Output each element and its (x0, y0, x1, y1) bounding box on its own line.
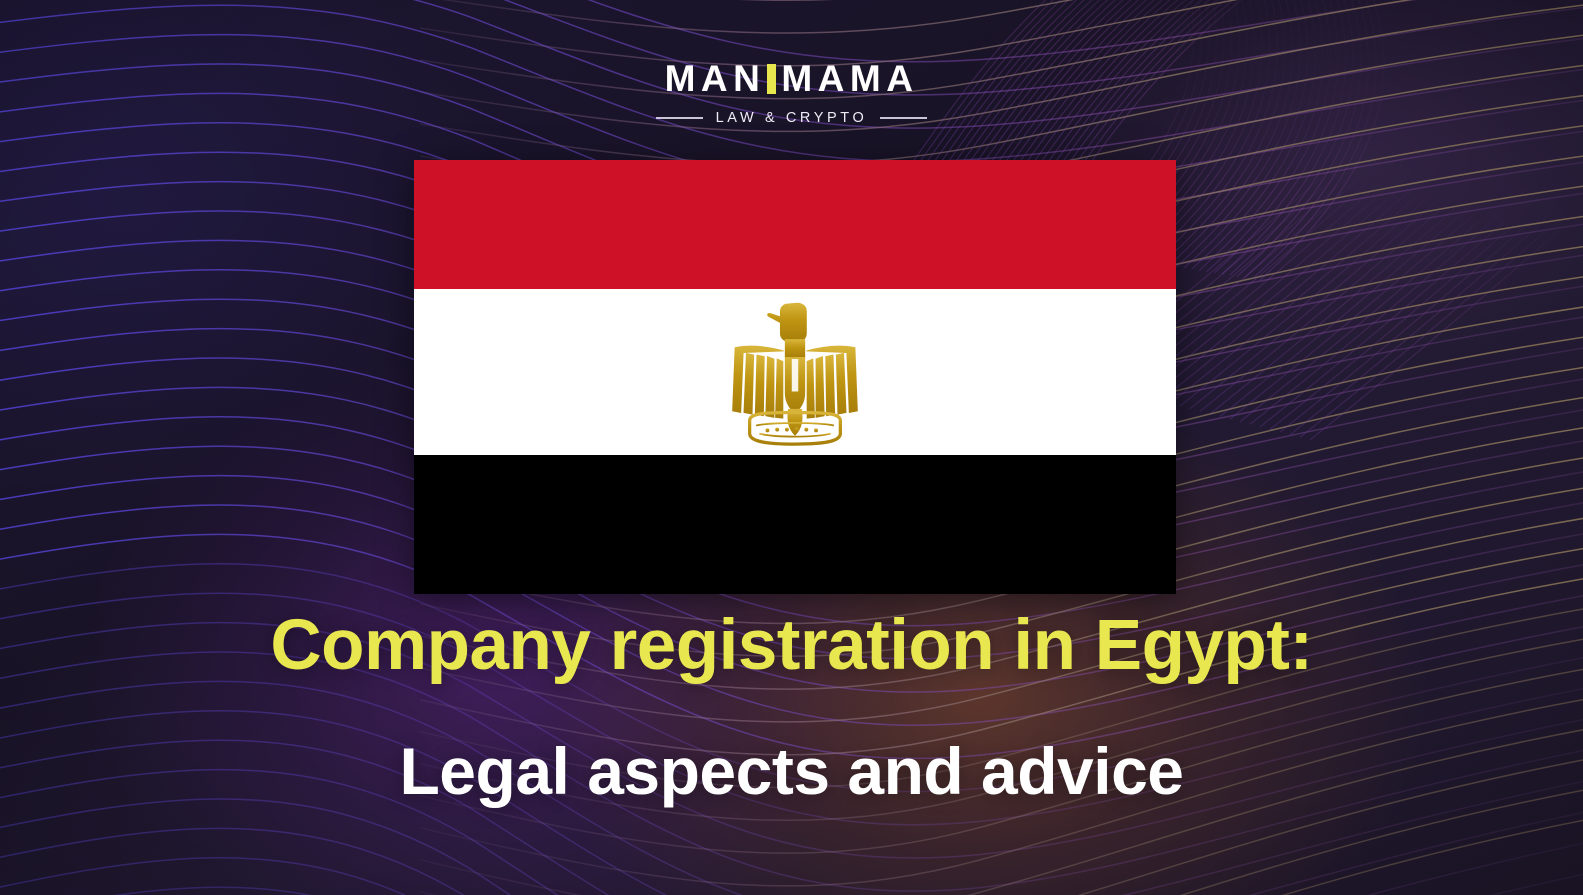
brand-name-part2: MAMA (781, 58, 918, 99)
brand-divider-icon (767, 64, 776, 94)
brand-name: MANMAMA (665, 60, 919, 97)
headline-line-2: Legal aspects and advice (0, 737, 1583, 807)
poster-canvas: MANMAMA LAW & CRYPTO (0, 0, 1583, 895)
eagle-of-saladin-icon (714, 291, 876, 453)
flag-band-black (414, 455, 1176, 594)
tagline-rule-right-icon (880, 117, 927, 119)
brand-name-part1: MAN (665, 58, 766, 99)
flag-band-red (414, 160, 1176, 289)
brand-logo: MANMAMA LAW & CRYPTO (0, 60, 1583, 126)
brand-tagline-row: LAW & CRYPTO (0, 110, 1583, 126)
egypt-flag-image (414, 160, 1176, 594)
tagline-rule-left-icon (656, 117, 703, 119)
headline-line-1: Company registration in Egypt: (0, 608, 1583, 683)
brand-tagline: LAW & CRYPTO (716, 110, 868, 126)
headline-block: Company registration in Egypt: Legal asp… (0, 608, 1583, 807)
